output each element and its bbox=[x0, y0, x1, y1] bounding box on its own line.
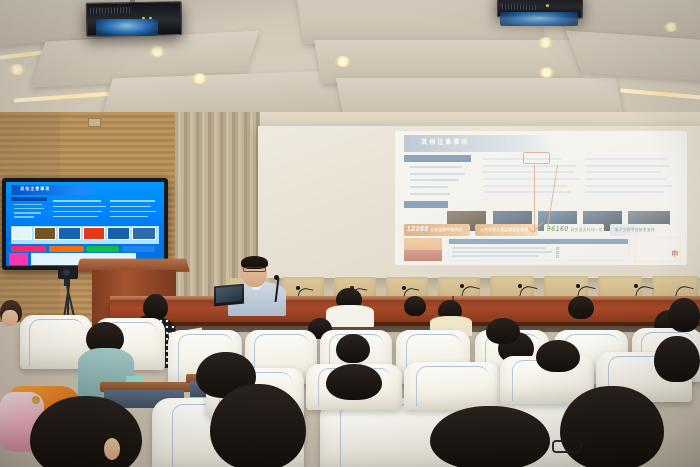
tv-photo-strip bbox=[11, 226, 160, 244]
attendee-head bbox=[404, 296, 426, 316]
ceiling-downlight bbox=[8, 64, 26, 75]
wall-tv-monitor: 其他注意事项 bbox=[2, 178, 168, 270]
attendee-head bbox=[568, 296, 594, 319]
ceiling-downlight bbox=[538, 67, 555, 78]
tv-photo bbox=[12, 227, 31, 241]
slide-left-card-secondary bbox=[404, 250, 442, 261]
slide-hotline-banner: 12388 纪检监察举报电话 bbox=[404, 224, 470, 235]
slide-bullet bbox=[410, 186, 448, 188]
slide-right-card: 申 bbox=[634, 237, 681, 262]
tv-bullet bbox=[110, 200, 154, 201]
presenter-glasses bbox=[243, 267, 266, 272]
slide-hotline-banner: 电子交易平台技术支持 bbox=[610, 224, 670, 235]
tv-hotline-banner bbox=[122, 246, 155, 252]
attendee-head bbox=[560, 386, 664, 467]
slide-bullet bbox=[585, 165, 670, 167]
projected-slide: 其他注意事项 bbox=[395, 131, 687, 265]
tv-screen: 其他注意事项 bbox=[6, 182, 164, 266]
attendee-ear bbox=[104, 438, 120, 460]
ceiling-downlight bbox=[148, 46, 166, 57]
hotline-label: 电子交易平台技术支持 bbox=[615, 227, 655, 233]
tv-photo bbox=[83, 227, 105, 241]
attendee-head bbox=[654, 336, 700, 382]
attendee-head bbox=[668, 298, 700, 332]
tv-bullet bbox=[110, 206, 151, 207]
tv-slide-title: 其他注意事项 bbox=[20, 186, 50, 192]
slide-bullet bbox=[410, 173, 465, 175]
ceiling-panel bbox=[566, 30, 700, 83]
attendee-shoulders bbox=[326, 305, 374, 327]
slide-bullet bbox=[410, 193, 451, 195]
tv-hotline-banners bbox=[11, 246, 160, 252]
tv-bullet bbox=[14, 212, 41, 213]
slide-bullet bbox=[483, 171, 574, 173]
slide-section-header bbox=[404, 155, 471, 162]
projector-vent bbox=[90, 7, 130, 14]
projector-indicator bbox=[546, 4, 549, 7]
slide-title: 其他注意事项 bbox=[421, 137, 469, 146]
presenter-microphone-head bbox=[274, 275, 279, 280]
ceiling-light-strip bbox=[620, 88, 700, 99]
tripod-head bbox=[64, 279, 70, 286]
marker-annotation-box bbox=[523, 152, 549, 164]
ceiling-downlight bbox=[334, 56, 352, 67]
slide-canvas: 其他注意事项 bbox=[395, 131, 687, 265]
slide-table-row bbox=[452, 251, 552, 253]
audience-seat bbox=[404, 362, 500, 410]
slide-table-row bbox=[452, 255, 538, 257]
microphone-head bbox=[296, 286, 300, 290]
camera-lens bbox=[62, 268, 71, 277]
hotline-label: 公共资源交易监督服务热线 bbox=[480, 227, 528, 233]
tv-bullet bbox=[110, 216, 148, 217]
attendee-head bbox=[326, 364, 382, 400]
tv-bullet bbox=[14, 216, 35, 217]
slide-section-header bbox=[404, 201, 448, 208]
slide-red-mark: 申 bbox=[671, 249, 678, 259]
ceiling bbox=[0, 0, 700, 120]
ceiling-downlight bbox=[537, 37, 554, 48]
slide-bullet bbox=[585, 178, 667, 180]
slide-table-checkbox bbox=[556, 247, 559, 250]
slide-table-checkbox bbox=[556, 255, 559, 258]
microphone-head bbox=[460, 284, 464, 288]
microphone-head bbox=[634, 284, 638, 288]
slide-table bbox=[448, 238, 629, 261]
projector-lens-glow-right bbox=[500, 12, 578, 26]
tv-section-header bbox=[11, 197, 47, 201]
hotline-label: 纪检监察举报电话 bbox=[431, 227, 463, 233]
slide-bullet bbox=[585, 185, 673, 187]
tv-bottom-card bbox=[9, 253, 28, 265]
projector-vent bbox=[502, 4, 536, 10]
tv-hotline-banner bbox=[11, 246, 47, 252]
tv-photo bbox=[58, 227, 80, 241]
tv-bullet bbox=[53, 216, 97, 217]
lecture-hall-photo: 其他注意事项 bbox=[0, 0, 700, 467]
tv-bullet bbox=[14, 208, 44, 209]
attendee-head bbox=[336, 334, 370, 363]
tv-slide-canvas: 其他注意事项 bbox=[6, 182, 164, 266]
slide-bullet bbox=[585, 158, 667, 160]
slide-bullet bbox=[483, 165, 576, 167]
slide-table-header bbox=[449, 239, 628, 244]
attendee-head bbox=[536, 340, 580, 372]
tv-photo bbox=[34, 227, 56, 241]
tv-photo bbox=[107, 227, 129, 241]
slide-bullet bbox=[585, 171, 661, 173]
slide-hotline-banner: 96160 政务服务热线一般咨询 bbox=[544, 224, 604, 235]
wall-speaker-grille bbox=[88, 118, 101, 127]
eyeglasses bbox=[552, 440, 582, 453]
microphone-head bbox=[518, 284, 522, 288]
attendee-head bbox=[210, 384, 306, 467]
attendee-head bbox=[430, 406, 550, 467]
tv-hotline-banner bbox=[49, 246, 83, 252]
slide-table-checkbox bbox=[556, 251, 559, 254]
tv-bullet bbox=[53, 200, 100, 201]
ceiling-downlight bbox=[191, 73, 208, 84]
slide-bullet bbox=[483, 185, 568, 187]
tv-hotline-banner bbox=[86, 246, 119, 252]
bag-clasp bbox=[32, 396, 40, 404]
hotline-number: 96160 bbox=[547, 226, 569, 233]
ceiling-downlight bbox=[663, 22, 679, 32]
attendee-head bbox=[486, 318, 520, 344]
slide-bullet bbox=[483, 178, 579, 180]
presenter-laptop-screen bbox=[216, 286, 242, 303]
hotline-label: 政务服务热线一般咨询 bbox=[571, 227, 604, 233]
microphone-head bbox=[576, 284, 580, 288]
tv-bullet bbox=[53, 206, 105, 207]
slide-bullet bbox=[585, 191, 664, 193]
slide-table-row bbox=[452, 247, 545, 249]
tv-bullet bbox=[14, 204, 42, 205]
tv-photo bbox=[132, 227, 156, 241]
microphone-head bbox=[402, 286, 406, 290]
attendee-face bbox=[2, 310, 18, 326]
tv-bullet bbox=[110, 211, 156, 212]
slide-bullet bbox=[410, 179, 460, 181]
slide-bullet bbox=[410, 166, 463, 168]
slide-bullet bbox=[483, 191, 571, 193]
tv-bullet bbox=[53, 211, 102, 212]
projector-lens-glow-left bbox=[96, 19, 158, 36]
notebook bbox=[126, 376, 144, 382]
hotline-number: 12388 bbox=[407, 226, 429, 233]
